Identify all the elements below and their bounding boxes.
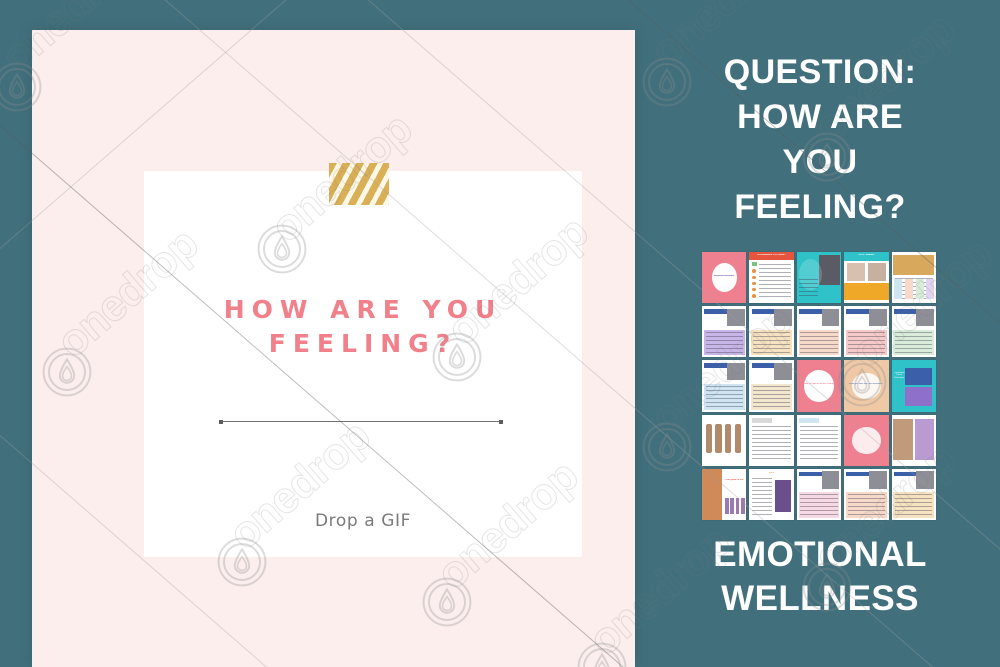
thumbnail-item[interactable]: Your guide to oils <box>702 469 746 520</box>
thumbnail-item[interactable]: STOP! Scanner <box>844 252 888 303</box>
thumbnail-item[interactable]: Emotional Wellness <box>702 252 746 303</box>
thumbnail-item[interactable]: OILS <box>749 469 793 520</box>
thumbnail-item[interactable] <box>797 469 841 520</box>
thumbnail-item[interactable]: What you start with, the emotional... <box>844 360 888 411</box>
preview-headline: HOW ARE YOU FEELING? <box>144 293 582 361</box>
thumbnail-item[interactable] <box>702 306 746 357</box>
thumbnail-item[interactable]: What do you do to feel strong? <box>797 360 841 411</box>
thumbnail-item[interactable] <box>797 252 841 303</box>
panel-title-topic: EMOTIONAL WELLNESS <box>640 533 1000 621</box>
preview-divider <box>220 421 502 422</box>
thumbnail-item[interactable] <box>892 469 936 520</box>
thumbnail-grid[interactable]: Emotional WellnessBOUNDARIES. DO I HAVE?… <box>702 252 936 523</box>
right-panel: QUESTION: HOW ARE YOU FEELING? Emotional… <box>640 0 1000 667</box>
thumbnail-item[interactable] <box>749 415 793 466</box>
thumbnail-item[interactable] <box>892 252 936 303</box>
thumbnail-item[interactable]: BOUNDARIES. DO I HAVE? <box>749 252 793 303</box>
thumbnail-item[interactable] <box>892 306 936 357</box>
screenshot-canvas: HOW ARE YOU FEELING? Drop a GIF QUESTION… <box>0 0 1000 667</box>
thumbnail-item[interactable] <box>892 415 936 466</box>
thumbnail-item[interactable] <box>797 415 841 466</box>
thumbnail-item[interactable] <box>749 306 793 357</box>
thumbnail-item[interactable] <box>797 306 841 357</box>
washi-tape-icon <box>329 163 389 205</box>
thumbnail-item[interactable] <box>844 415 888 466</box>
thumbnail-item[interactable] <box>844 469 888 520</box>
drop-a-gif-label: Drop a GIF <box>144 511 582 531</box>
thumbnail-item[interactable] <box>749 360 793 411</box>
thumbnail-item[interactable] <box>702 360 746 411</box>
preview-inner-card <box>144 171 582 557</box>
thumbnail-item[interactable] <box>702 415 746 466</box>
preview-card[interactable]: HOW ARE YOU FEELING? Drop a GIF <box>32 30 635 667</box>
thumbnail-item[interactable] <box>844 306 888 357</box>
thumbnail-item[interactable]: The Aroma Touch Technique <box>892 360 936 411</box>
panel-title-question: QUESTION: HOW ARE YOU FEELING? <box>640 50 1000 230</box>
